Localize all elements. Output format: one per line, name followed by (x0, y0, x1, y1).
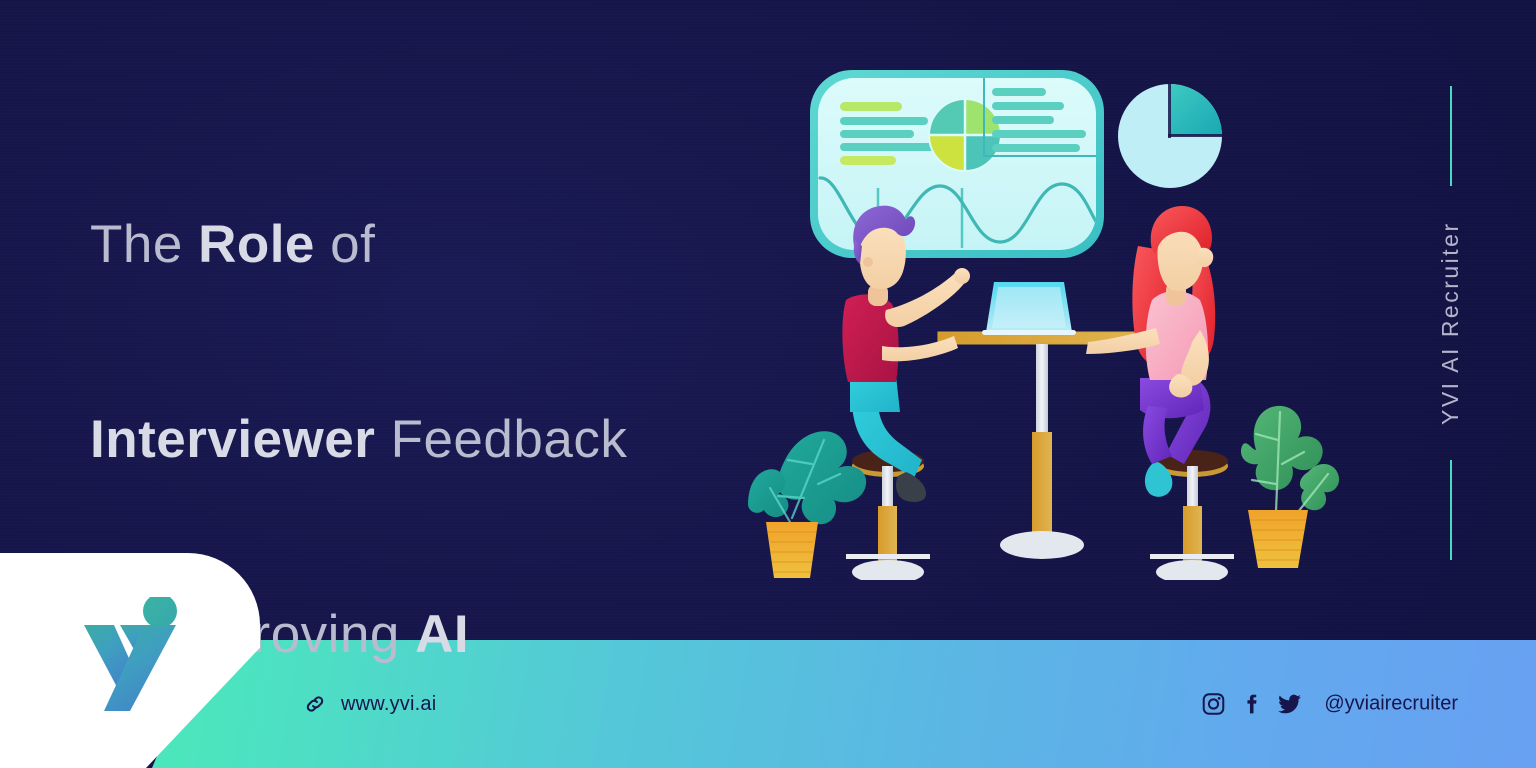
footer-content: www.yvi.ai @yviairecruiter (0, 640, 1536, 768)
floating-pie-chart (1118, 84, 1224, 188)
interviewer-character (842, 206, 970, 580)
headline-text: The (90, 215, 198, 274)
headline-emphasis: Interviewer (90, 410, 375, 469)
vertical-rule-bottom (1450, 460, 1452, 560)
headline-line-2: Interviewer Feedback (90, 407, 627, 472)
banner-root: The Role of Interviewer Feedback in Impr… (0, 0, 1536, 768)
headline-text: Feedback (375, 410, 627, 469)
instagram-icon[interactable] (1201, 692, 1226, 717)
laptop-icon (982, 282, 1076, 335)
social-handle-text: @yviairecruiter (1324, 693, 1458, 716)
candidate-character (1086, 206, 1234, 580)
twitter-icon[interactable] (1276, 692, 1303, 717)
potted-plant-right (1241, 406, 1339, 568)
dashboard-pie-chart (929, 99, 1001, 171)
standing-table (938, 332, 1146, 559)
vertical-brand-text: YVI AI Recruiter (1437, 186, 1464, 460)
interview-scene-illustration (700, 60, 1380, 580)
vertical-rule-top (1450, 86, 1452, 186)
website-link[interactable]: www.yvi.ai (302, 691, 436, 717)
vertical-brand-label: YVI AI Recruiter (1437, 86, 1464, 560)
headline-emphasis: Role (198, 215, 315, 274)
headline-line-1: The Role of (90, 212, 627, 277)
headline-text: of (315, 215, 375, 274)
social-links: @yviairecruiter (1201, 692, 1458, 717)
yvi-logo-icon[interactable] (78, 597, 198, 715)
link-chain-icon (302, 691, 328, 717)
website-url-text: www.yvi.ai (341, 693, 436, 716)
facebook-icon[interactable] (1243, 692, 1259, 717)
